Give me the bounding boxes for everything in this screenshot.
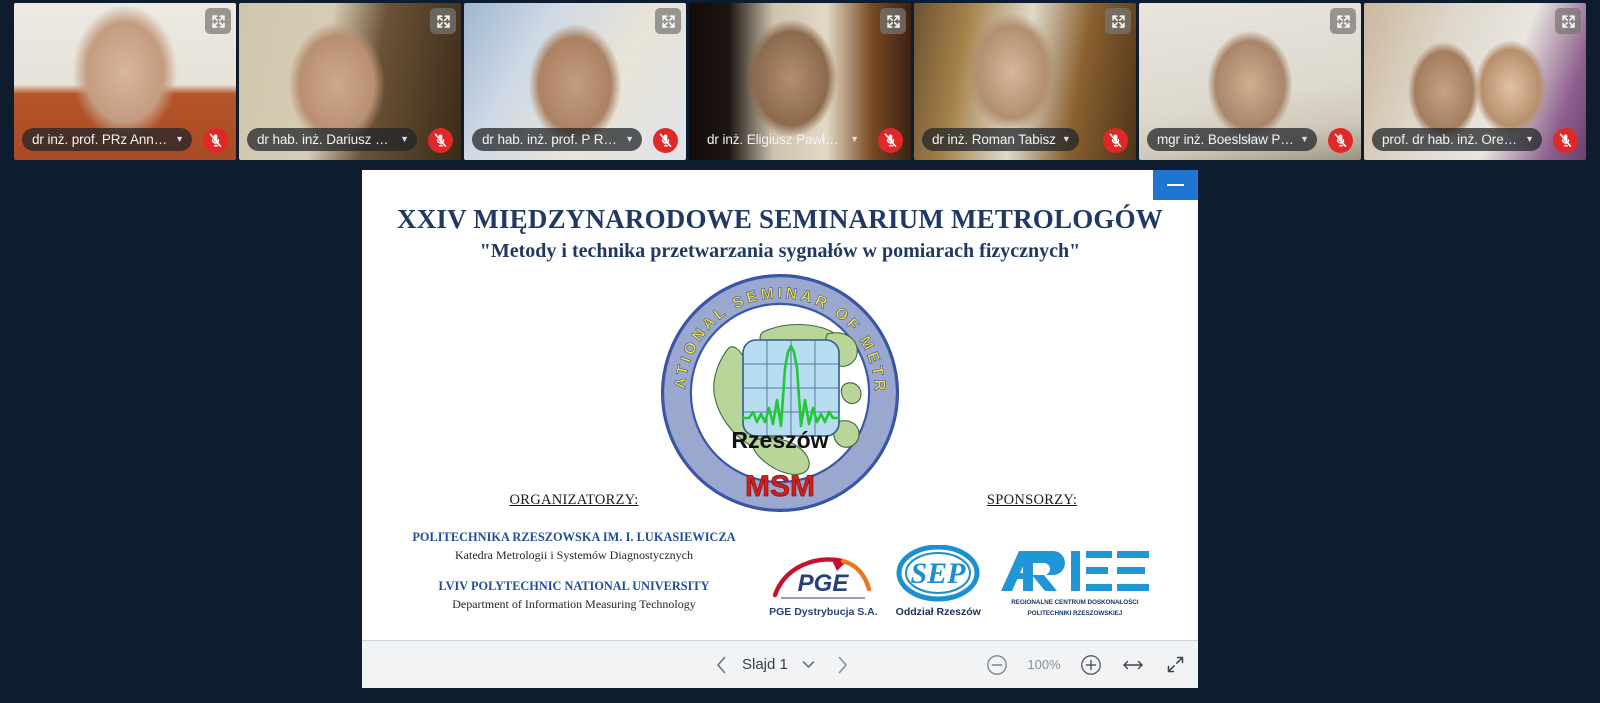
zoom-controls: 100% [982,650,1190,680]
expand-icon[interactable] [205,8,231,34]
participant-tile[interactable]: dr inż. Eligiusz Pawłowski ▼ [689,3,911,160]
presentation-slide[interactable]: XXIV MIĘDZYNARODOWE SEMINARIUM METROLOGÓ… [362,170,1198,640]
participant-name: mgr inż. Boeslsław Pałac [1157,132,1294,147]
expand-icon[interactable] [655,8,681,34]
microphone-muted-icon [878,128,903,153]
microphone-muted-icon [428,128,453,153]
participant-name: prof. dr hab. inż. Orest Ivak… [1382,132,1519,147]
participant-name-bar[interactable]: dr inż. Roman Tabisz ▼ [922,128,1079,151]
organizer-dept-2: Department of Information Measuring Tech… [404,597,744,612]
participant-tile[interactable]: dr hab. inż. prof. P Robert … ▼ [464,3,686,160]
minimize-icon [1167,184,1184,187]
fit-width-button[interactable] [1118,650,1148,680]
chevron-down-icon[interactable]: ▼ [850,135,859,144]
previous-slide-button[interactable] [706,650,736,680]
pge-caption: PGE Dystrybucja S.A. [769,606,878,618]
organizers-heading: ORGANIZATORZY: [404,492,744,509]
participant-tile[interactable]: dr inż. prof. PRz Anna Szlac… ▼ [14,3,236,160]
participant-name-bar[interactable]: dr inż. Eligiusz Pawłowski ▼ [697,128,867,151]
participant-tile[interactable]: mgr inż. Boeslsław Pałac ▼ [1139,3,1361,160]
organizer-dept-1: Katedra Metrologii i Systemów Diagnostyc… [404,548,744,563]
zoom-in-button[interactable] [1076,650,1106,680]
chevron-down-icon[interactable]: ▼ [625,135,634,144]
participant-name: dr inż. Roman Tabisz [932,132,1056,147]
svg-text:SEP: SEP [911,557,967,590]
expand-icon[interactable] [1555,8,1581,34]
pge-logo: PGE PGE Dystrybucja S.A. [769,547,878,618]
participant-tile[interactable]: dr inż. Roman Tabisz ▼ [914,3,1136,160]
zoom-level-value: 100% [1024,657,1064,672]
microphone-muted-icon [653,128,678,153]
microphone-muted-icon [203,128,228,153]
organizer-name-1: POLITECHNIKA RZESZOWSKA IM. I. LUKASIEWI… [404,530,744,545]
participant-video-strip: dr inż. prof. PRz Anna Szlac… ▼ dr hab. … [0,0,1600,162]
arieet-caption-line1: REGIONALNE CENTRUM DOSKONAŁOŚCI [1011,599,1138,607]
microphone-muted-icon [1103,128,1128,153]
svg-text:PGE: PGE [798,570,850,597]
arieet-caption-line2: POLITECHNIKI RZESZOWSKIEJ [1027,610,1122,618]
arieet-logo: REGIONALNE CENTRUM DOSKONAŁOŚCI POLITECH… [999,545,1151,618]
expand-icon[interactable] [1105,8,1131,34]
participant-name: dr inż. Eligiusz Pawłowski [707,132,844,147]
participant-name: dr hab. inż. prof. P Robert … [482,132,619,147]
participant-name: dr hab. inż. Dariusz Świsuls… [257,132,394,147]
chevron-down-icon[interactable]: ▼ [1300,135,1309,144]
participant-name: dr inż. prof. PRz Anna Szlac… [32,132,169,147]
microphone-muted-icon [1328,128,1353,153]
participant-tile[interactable]: prof. dr hab. inż. Orest Ivak… ▼ [1364,3,1586,160]
sponsors-heading: SPONSORZY: [882,492,1182,509]
chevron-down-icon[interactable]: ▼ [1062,135,1071,144]
slide-dropdown-button[interactable] [794,650,824,680]
next-slide-button[interactable] [828,650,858,680]
chevron-down-icon[interactable]: ▼ [175,135,184,144]
sponsor-logos: PGE PGE Dystrybucja S.A. SEP Oddział Rze… [760,528,1160,618]
screen-share-panel: XXIV MIĘDZYNARODOWE SEMINARIUM METROLOGÓ… [362,170,1198,688]
organizers-block: ORGANIZATORZY: POLITECHNIKA RZESZOWSKA I… [404,492,744,612]
expand-icon[interactable] [430,8,456,34]
participant-name-bar[interactable]: prof. dr hab. inż. Orest Ivak… ▼ [1372,128,1542,151]
participant-name-bar[interactable]: dr inż. prof. PRz Anna Szlac… ▼ [22,128,192,151]
msm-seal-logo: INTERNATIONAL SEMINAR OF METROLOGY Rzesz… [659,272,901,514]
chevron-down-icon[interactable]: ▼ [1525,135,1534,144]
sponsors-block: SPONSORZY: [882,492,1182,509]
participant-tile[interactable]: dr hab. inż. Dariusz Świsuls… ▼ [239,3,461,160]
organizer-name-2: LVIV POLYTECHNIC NATIONAL UNIVERSITY [404,579,744,594]
minimize-button[interactable] [1153,170,1198,200]
chevron-down-icon[interactable]: ▼ [400,135,409,144]
logo-acronym-text: MSM [745,470,815,503]
slide-title: XXIV MIĘDZYNARODOWE SEMINARIUM METROLOGÓ… [362,204,1198,235]
participant-name-bar[interactable]: dr hab. inż. Dariusz Świsuls… ▼ [247,128,417,151]
fullscreen-button[interactable] [1160,650,1190,680]
microphone-muted-icon [1553,128,1578,153]
participant-name-bar[interactable]: dr hab. inż. prof. P Robert … ▼ [472,128,642,151]
expand-icon[interactable] [880,8,906,34]
sep-logo: SEP Oddział Rzeszów [896,545,981,618]
zoom-out-button[interactable] [982,650,1012,680]
slide-number-label: Slajd 1 [740,656,790,673]
slide-subtitle: "Metody i technika przetwarzania sygnałó… [362,240,1198,263]
expand-icon[interactable] [1330,8,1356,34]
participant-name-bar[interactable]: mgr inż. Boeslsław Pałac ▼ [1147,128,1317,151]
slide-navigation: Slajd 1 [706,650,858,680]
logo-city-text: Rzeszów [731,427,828,453]
presentation-toolbar: Slajd 1 100% [362,640,1198,688]
sep-caption: Oddział Rzeszów [896,606,981,618]
